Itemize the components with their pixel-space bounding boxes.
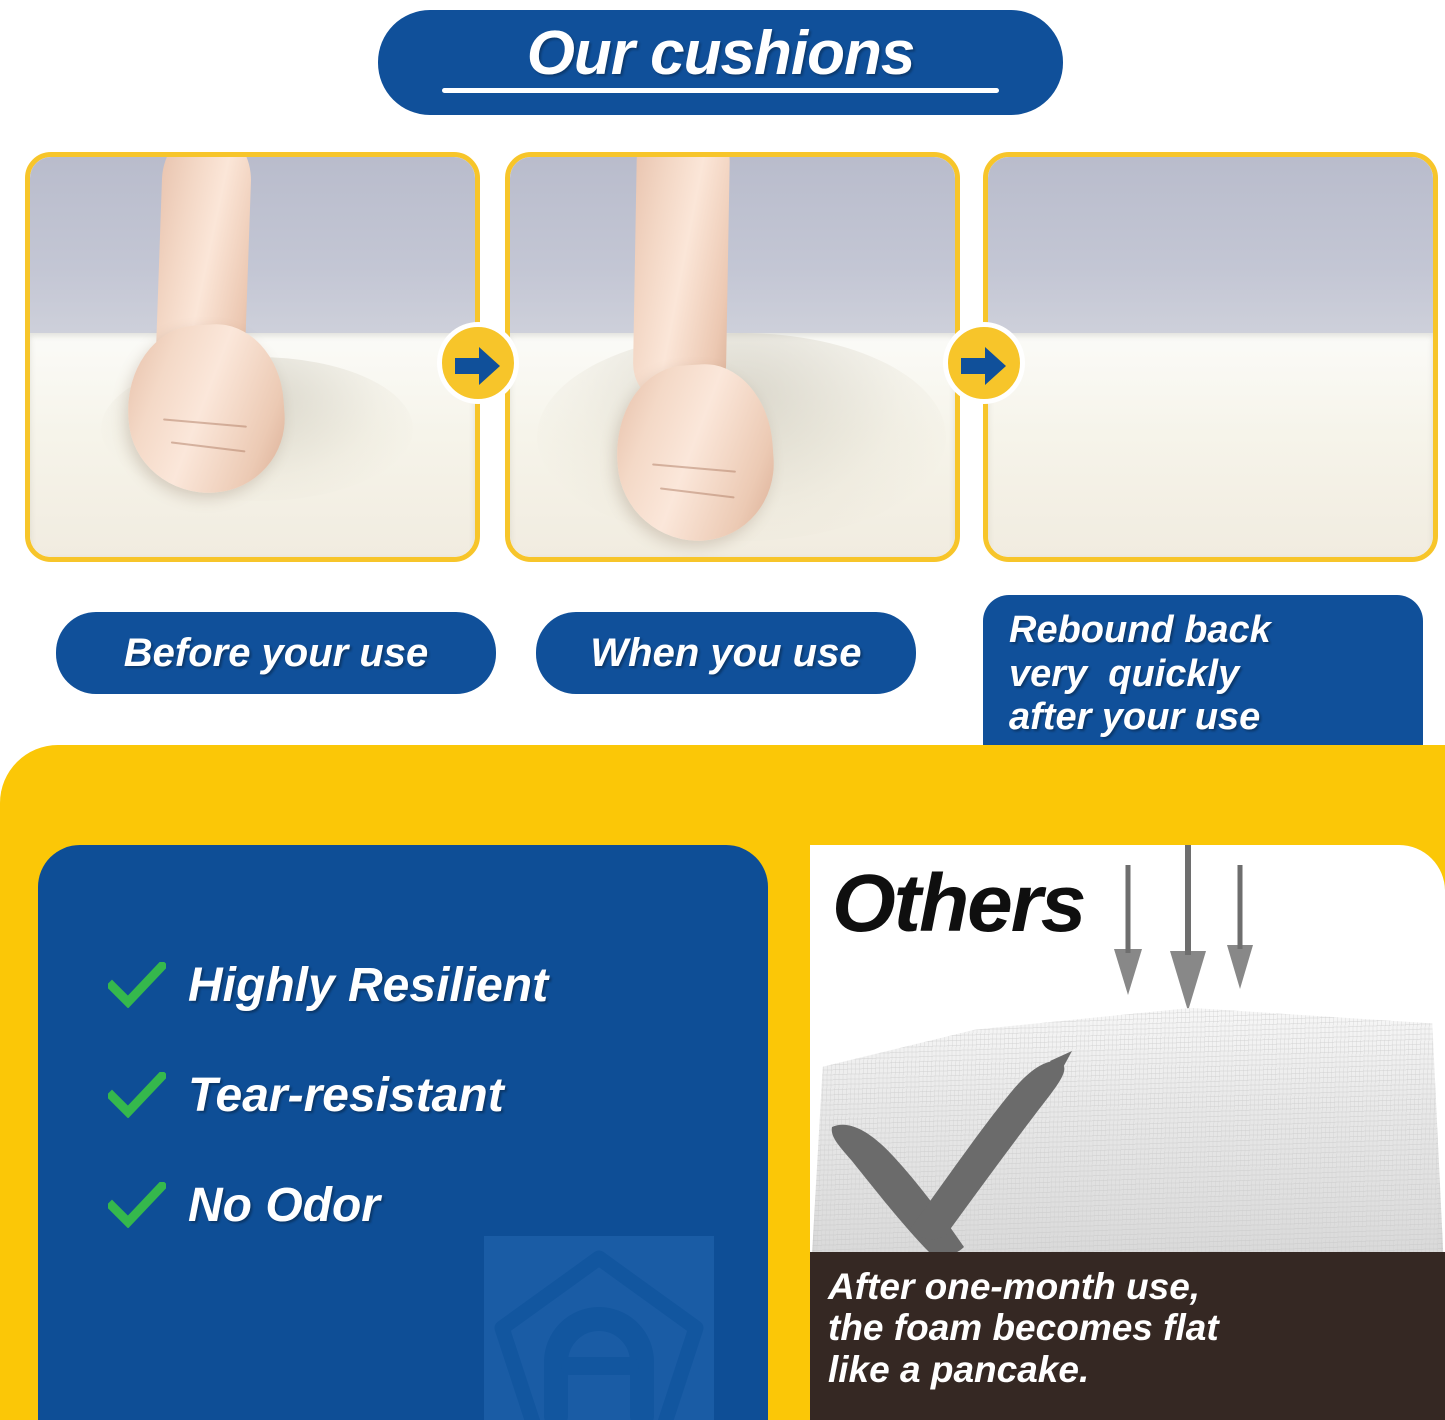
others-caption-line3: like a pancake.: [828, 1349, 1445, 1390]
title-underline: [442, 88, 999, 93]
feature-row: Highly Resilient: [38, 950, 768, 1020]
feature-label: No Odor: [188, 1178, 380, 1233]
step-photo-after: [983, 152, 1438, 562]
knuckle-line: [163, 419, 247, 428]
fist-compressing-foam-photo: [510, 157, 955, 557]
step-label-after-line1: Rebound back: [1009, 609, 1423, 653]
brush-x-mark-icon: [814, 1015, 1104, 1265]
step-photo-before: [25, 152, 480, 562]
knuckle-line: [652, 463, 736, 472]
photo-foam-surface: [988, 333, 1433, 557]
fist-pressing-foam-photo: [30, 157, 475, 557]
page-title-pill: Our cushions: [378, 10, 1063, 115]
step-label-before: Before your use: [56, 612, 496, 694]
feature-label: Highly Resilient: [188, 958, 548, 1013]
check-icon: [108, 1182, 166, 1228]
step-label-after-line3: after your use: [1009, 696, 1423, 740]
knuckle-line: [660, 487, 734, 498]
rebounded-foam-photo: [988, 157, 1433, 557]
check-icon: [108, 962, 166, 1008]
arrow-right-icon: [943, 322, 1025, 404]
comparison-section: Highly Resilient Tear-resistant No Odor …: [0, 745, 1445, 1420]
arrow-right-icon: [437, 322, 519, 404]
others-card: Others After one-month use, the foam bec…: [810, 845, 1445, 1420]
page-title: Our cushions: [378, 18, 1063, 89]
others-caption-line1: After one-month use,: [828, 1266, 1445, 1307]
photo-background-wall: [988, 157, 1433, 341]
our-features-card: Highly Resilient Tear-resistant No Odor: [38, 845, 768, 1420]
check-icon: [108, 1072, 166, 1118]
step-label-after-line2: very quickly: [1009, 653, 1423, 697]
feature-row: Tear-resistant: [38, 1060, 768, 1130]
photo-background-wall: [30, 157, 475, 341]
others-title: Others: [832, 857, 1084, 951]
photo-background-wall: [510, 157, 955, 341]
forearm-shape: [632, 152, 730, 398]
step-photo-during: [505, 152, 960, 562]
header: Our cushions: [0, 0, 1445, 140]
feature-label: Tear-resistant: [188, 1068, 504, 1123]
others-caption: After one-month use, the foam becomes fl…: [810, 1252, 1445, 1420]
knuckle-line: [171, 441, 245, 452]
step-photo-row: [0, 152, 1445, 572]
others-caption-line2: the foam becomes flat: [828, 1307, 1445, 1348]
feature-row: No Odor: [38, 1170, 768, 1240]
pentagon-logo-watermark: [484, 1236, 714, 1420]
step-label-during: When you use: [536, 612, 916, 694]
step-label-after: Rebound back very quickly after your use: [983, 595, 1423, 770]
downward-pressure-arrows-icon: [1100, 845, 1280, 1025]
